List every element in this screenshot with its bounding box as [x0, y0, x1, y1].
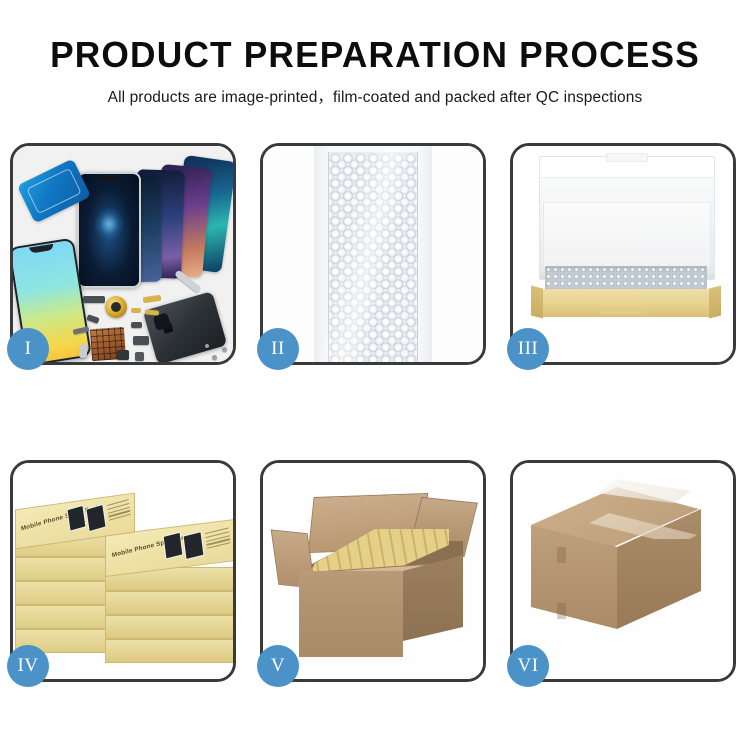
stacked-box-r3: [105, 591, 233, 615]
process-step-panel-4: Mobile Phone Spare Parts Mobile Phone Sp…: [10, 460, 236, 682]
small-part-7: [135, 352, 144, 361]
page-subtitle: All products are image-printed，film-coat…: [0, 85, 750, 107]
box-phone-image-l1: [66, 505, 86, 532]
small-part-3: [131, 322, 142, 328]
box-spec-lines-right: [205, 527, 231, 551]
step-badge-6: VI: [507, 645, 549, 687]
carton-seam-upper: [557, 547, 566, 563]
step-2-image: [263, 146, 483, 362]
step-3-image: [513, 146, 733, 362]
small-part-1: [83, 296, 105, 303]
open-carton-scene: [263, 463, 483, 679]
process-step-panel-2: II: [260, 143, 486, 365]
flex-cable-1: [143, 295, 162, 303]
stacked-boxes-scene: Mobile Phone Spare Parts Mobile Phone Sp…: [13, 463, 233, 679]
step-badge-5: V: [257, 645, 299, 687]
gold-coil-part: [105, 296, 127, 318]
mailer-base-tab: [600, 309, 646, 314]
screw-3: [205, 344, 209, 348]
process-step-panel-5: V: [260, 460, 486, 682]
box-phone-image-r2: [183, 531, 205, 560]
small-part-5: [79, 344, 87, 358]
box-spec-lines-left: [107, 499, 131, 523]
step-4-image: Mobile Phone Spare Parts Mobile Phone Sp…: [13, 463, 233, 679]
page-title: PRODUCT PREPARATION PROCESS: [8, 36, 743, 74]
bubble-wrap-scene: [263, 146, 483, 362]
process-step-panel-1: I: [10, 143, 236, 365]
box-stack: Mobile Phone Spare Parts Mobile Phone Sp…: [13, 479, 233, 679]
stacked-box-r5: [105, 639, 233, 663]
carton-seam-lower: [557, 603, 566, 619]
process-step-panel-3: III: [510, 143, 736, 365]
header: PRODUCT PREPARATION PROCESS All products…: [0, 0, 750, 107]
flex-cable-3: [131, 308, 141, 313]
step-6-image: [513, 463, 733, 679]
open-mailer-scene: [513, 146, 733, 362]
product-preparation-infographic: PRODUCT PREPARATION PROCESS All products…: [0, 0, 750, 750]
small-part-6: [117, 350, 129, 360]
step-5-image: [263, 463, 483, 679]
carton-front-face: [299, 571, 403, 657]
small-part-2: [133, 336, 149, 345]
step-badge-2: II: [257, 328, 299, 370]
step-badge-4: IV: [7, 645, 49, 687]
step-badge-3: III: [507, 328, 549, 370]
wrap-sheen-highlight: [314, 146, 432, 362]
screw-2: [222, 347, 227, 352]
sealed-carton-scene: [513, 463, 733, 679]
step-badge-1: I: [7, 328, 49, 370]
process-step-panel-6: VI: [510, 460, 736, 682]
stacked-box-r4: [105, 615, 233, 639]
foam-insert: [543, 202, 711, 268]
phone-back-housing: [143, 291, 228, 362]
small-part-4: [86, 314, 99, 324]
box-phone-image-r1: [163, 532, 184, 560]
box-phone-image-l2: [85, 504, 106, 532]
phone-parts-scene: [13, 146, 233, 362]
screw-1: [212, 355, 217, 360]
step-1-image: [13, 146, 233, 362]
